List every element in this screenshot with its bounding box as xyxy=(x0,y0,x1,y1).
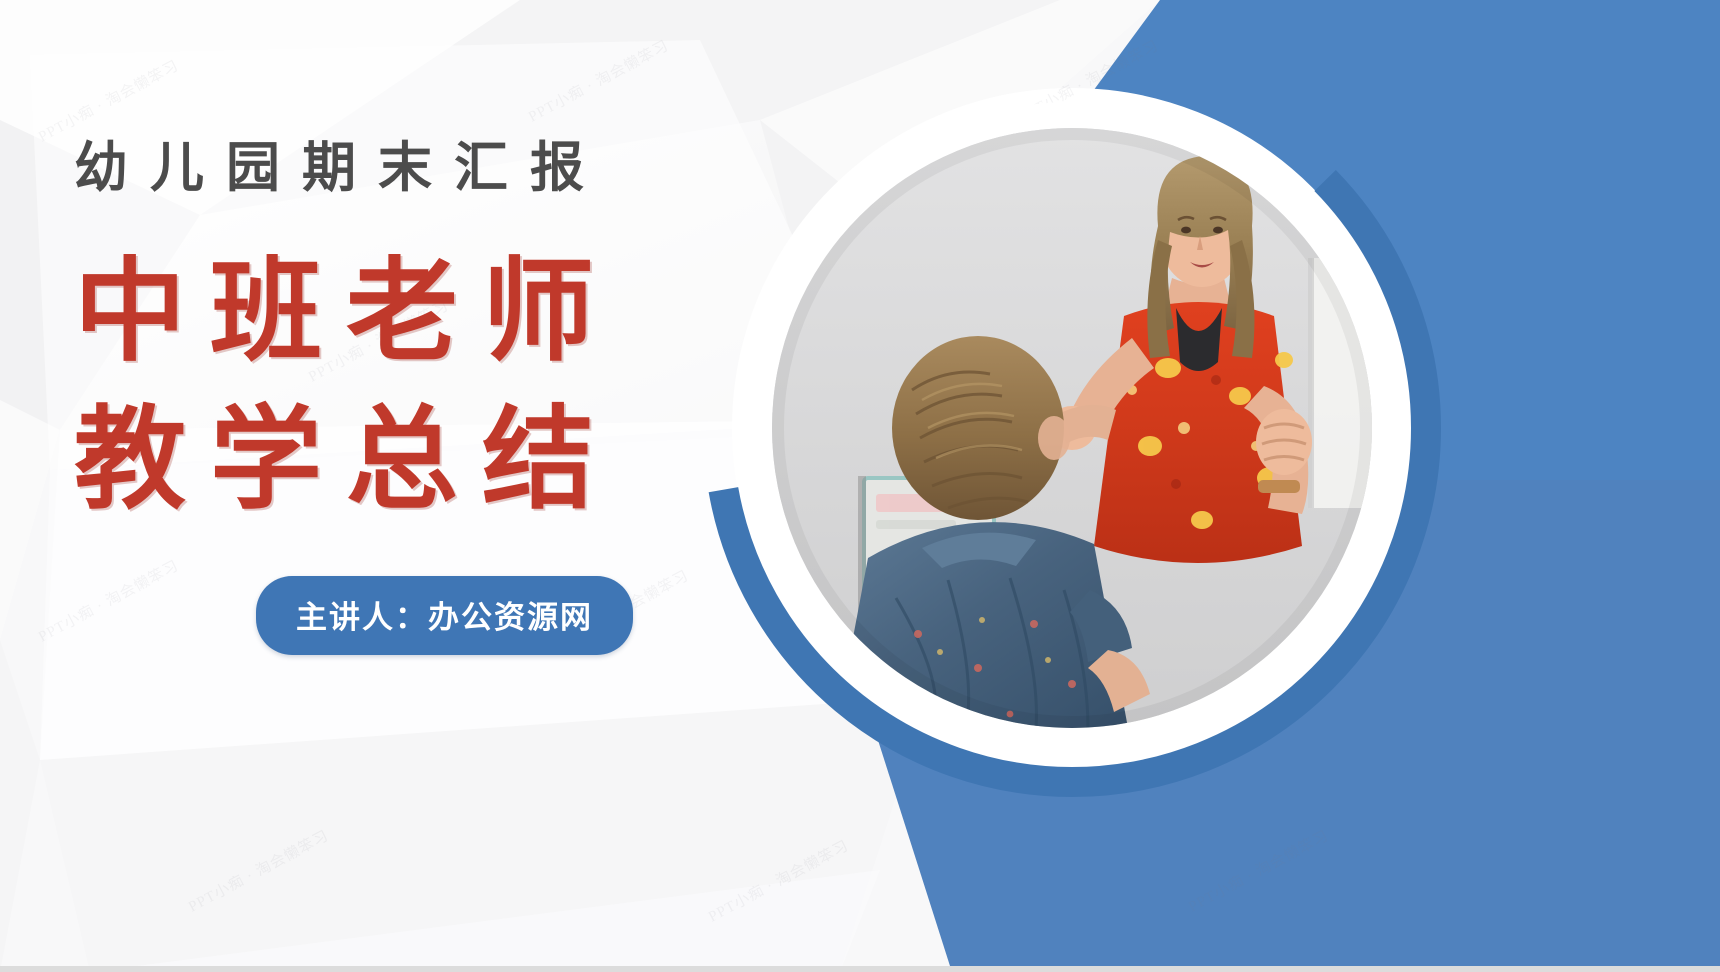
slide-title-line-2: 教学总结 xyxy=(74,387,834,535)
slide-bottom-edge xyxy=(0,966,1720,972)
presentation-title-slide: PPT小痴 · 淘会懒笨习 PPT小痴 · 淘会懒笨习 PPT小痴 · 淘会懒笨… xyxy=(0,0,1720,972)
speaker-badge[interactable]: 主讲人：办公资源网 xyxy=(256,576,633,655)
classroom-photo-illustration xyxy=(772,128,1372,728)
photo-circle-frame xyxy=(772,128,1372,728)
hero-photo xyxy=(772,128,1372,728)
title-text-group: 幼儿园期末汇报 中班老师 教学总结 主讲人：办公资源网 xyxy=(74,140,834,655)
slide-title-line-1: 中班老师 xyxy=(74,239,834,387)
slide-subtitle: 幼儿园期末汇报 xyxy=(74,140,834,197)
